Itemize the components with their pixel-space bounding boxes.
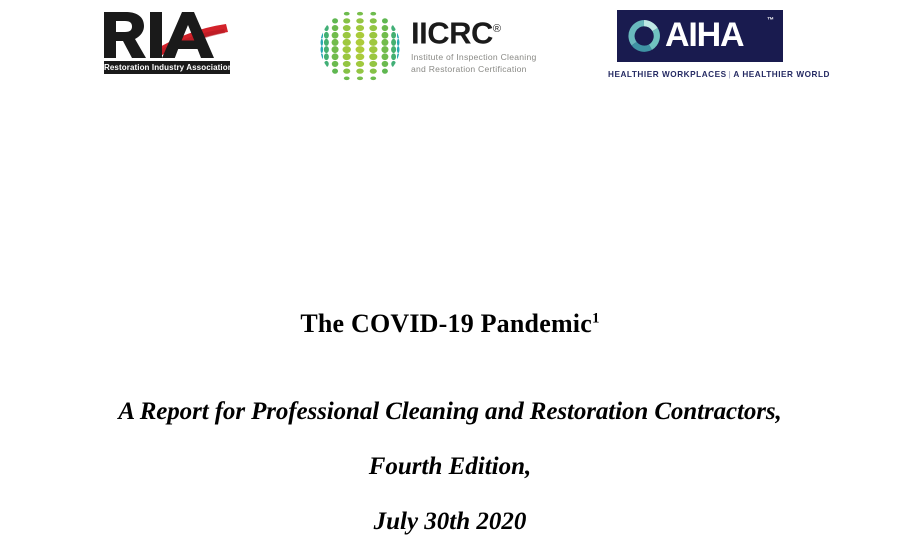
page-title: The COVID-19 Pandemic1: [0, 309, 900, 339]
page-title-text: The COVID-19 Pandemic: [300, 309, 592, 338]
title-block: The COVID-19 Pandemic1 A Report for Prof…: [0, 0, 900, 550]
document-page: Restoration Industry Association IICRC® …: [0, 0, 900, 550]
footnote-marker: 1: [592, 310, 600, 326]
subtitle-line-3: July 30th 2020: [0, 508, 900, 536]
subtitle-line-1: A Report for Professional Cleaning and R…: [0, 398, 900, 426]
subtitle-line-2: Fourth Edition,: [0, 453, 900, 481]
